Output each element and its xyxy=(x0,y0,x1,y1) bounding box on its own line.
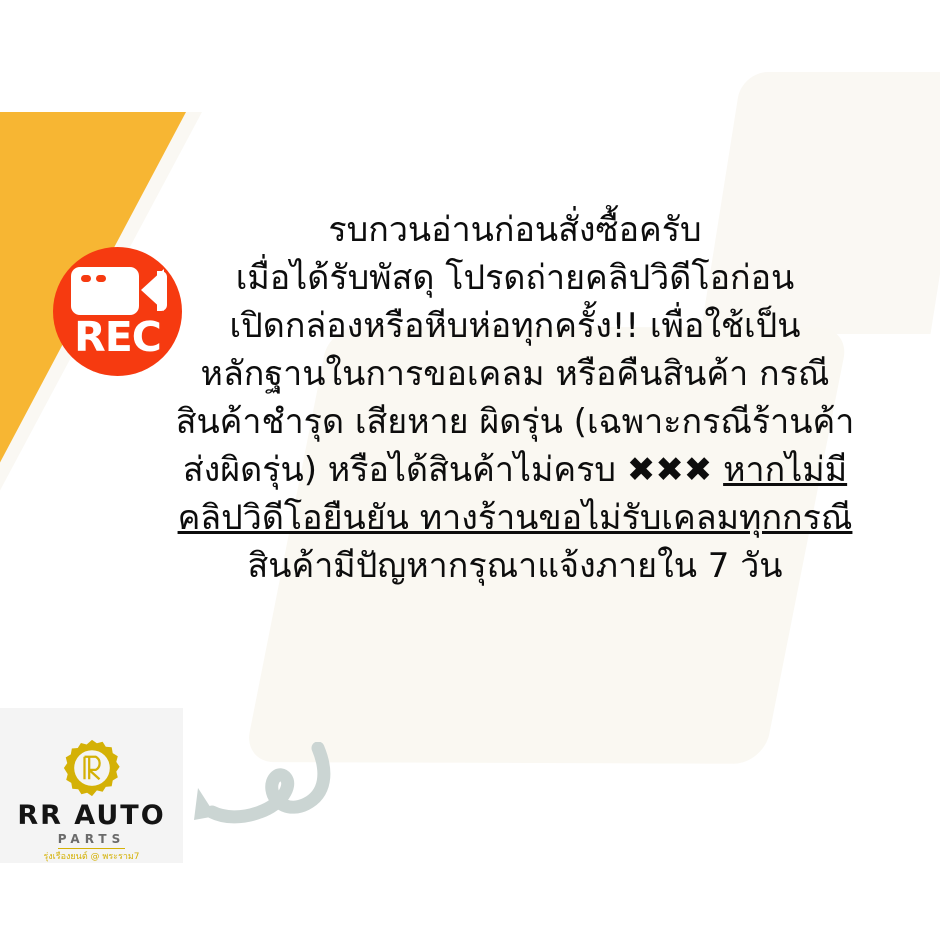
message-line: เมื่อได้รับพัสดุ โปรดถ่ายคลิปวิดีโอก่อน xyxy=(120,254,910,302)
message-segment: เมื่อได้รับพัสดุ โปรดถ่ายคลิปวิดีโอก่อน xyxy=(236,258,795,298)
message-segment: หลักฐานในการขอเคลม หรือคืนสินค้า กรณี xyxy=(201,354,830,394)
video-camera-icon xyxy=(71,267,139,315)
message-segment: รบกวนอ่านก่อนสั่งซื้อครับ xyxy=(328,210,701,250)
message-block: รบกวนอ่านก่อนสั่งซื้อครับเมื่อได้รับพัสด… xyxy=(120,206,910,590)
logo-sub-text: PARTS xyxy=(58,833,126,849)
camera-dot-left xyxy=(81,275,91,282)
message-line: สินค้ามีปัญหากรุณาแจ้งภายใน 7 วัน xyxy=(120,542,910,590)
curly-arrow-icon xyxy=(186,742,346,860)
logo-brand-text: RR AUTO xyxy=(17,802,165,829)
message-line: คลิปวิดีโอยืนยัน ทางร้านขอไม่รับเคลมทุกก… xyxy=(120,494,910,542)
camera-lens-cap xyxy=(157,271,167,311)
gear-r-monogram-icon xyxy=(60,738,124,798)
message-segment: สินค้าชำรุด เสียหาย ผิดรุ่น (เฉพาะกรณีร้… xyxy=(176,402,855,442)
message-line: สินค้าชำรุด เสียหาย ผิดรุ่น (เฉพาะกรณีร้… xyxy=(120,398,910,446)
message-line: ส่งผิดรุ่น) หรือได้สินค้าไม่ครบ ✖✖✖ หากไ… xyxy=(120,446,910,494)
message-line: รบกวนอ่านก่อนสั่งซื้อครับ xyxy=(120,206,910,254)
message-segment: หากไม่มี xyxy=(723,450,847,490)
message-line: หลักฐานในการขอเคลม หรือคืนสินค้า กรณี xyxy=(120,350,910,398)
message-segment: เปิดกล่องหรือหีบห่อทุกครั้ง!! เพื่อใช้เป… xyxy=(230,306,801,346)
message-segment: ส่งผิดรุ่น) หรือได้สินค้าไม่ครบ xyxy=(183,450,627,490)
message-segment: ✖✖✖ xyxy=(627,450,712,490)
message-segment xyxy=(712,450,723,490)
poster-canvas: REC รบกวนอ่านก่อนสั่งซื้อครับเมื่อได้รับ… xyxy=(0,0,940,940)
brand-logo-card: RR AUTO PARTS รุ่งเรืองยนต์ @ พระราม7 xyxy=(0,708,183,863)
rec-label: REC xyxy=(53,317,182,358)
message-segment: คลิปวิดีโอยืนยัน ทางร้านขอไม่รับเคลมทุกก… xyxy=(178,498,853,538)
logo-thai-tagline: รุ่งเรืองยนต์ @ พระราม7 xyxy=(43,853,139,863)
camera-dot-right xyxy=(96,275,106,282)
message-segment: สินค้ามีปัญหากรุณาแจ้งภายใน 7 วัน xyxy=(247,546,782,586)
rec-badge: REC xyxy=(53,247,182,376)
message-line: เปิดกล่องหรือหีบห่อทุกครั้ง!! เพื่อใช้เป… xyxy=(120,302,910,350)
